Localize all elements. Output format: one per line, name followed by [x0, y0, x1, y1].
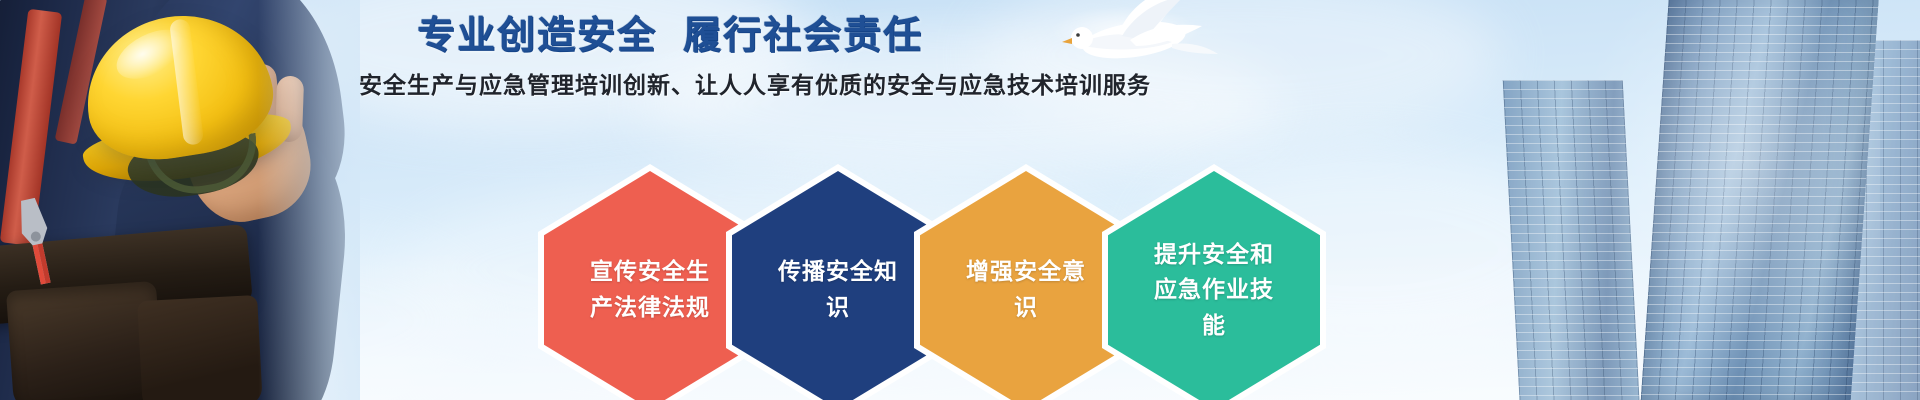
safety-training-banner: 专业创造安全履行社会责任 安全生产与应急管理培训创新、让人人享有优质的安全与应急… — [0, 0, 1920, 400]
badge-label: 提升安全和应急作业技能 — [1143, 237, 1285, 344]
badge-label: 传播安全知识 — [767, 254, 909, 325]
badge-label: 增强安全意识 — [955, 254, 1097, 325]
badge-skills[interactable]: 提升安全和应急作业技能 — [1102, 164, 1326, 400]
badge-row: 宣传安全生产法律法规 传播安全知识 增强安全意识 提升安全和应急作业技能 — [0, 0, 1920, 400]
badge-label: 宣传安全生产法律法规 — [579, 254, 721, 325]
